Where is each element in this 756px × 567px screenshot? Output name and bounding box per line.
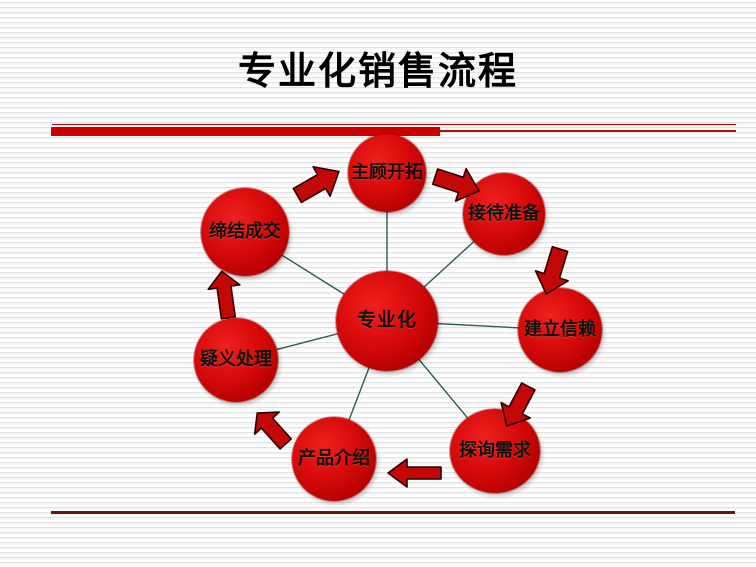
node-step-6-label: 疑义处理 (194, 350, 278, 370)
node-step-3[interactable]: 建立信赖 (518, 288, 602, 372)
node-step-2-label: 接待准备 (463, 204, 545, 224)
node-step-7[interactable]: 缔结成交 (201, 188, 289, 276)
node-step-6[interactable]: 疑义处理 (194, 318, 278, 402)
node-step-1-label: 主顾开拓 (348, 163, 426, 183)
node-step-3-label: 建立信赖 (518, 320, 602, 340)
node-center-label: 专业化 (336, 310, 438, 331)
arrow-right-down-icon (432, 162, 484, 206)
arrow-up-right-icon (292, 160, 346, 206)
arrow-up-left-icon (249, 405, 295, 451)
arrow-left-icon (385, 456, 443, 490)
slide-canvas: 专业化销售流程 专业化 主顾开拓 接待准备 建立信赖 探询需求 产品介绍 疑义处… (0, 0, 756, 567)
node-step-1[interactable]: 主顾开拓 (348, 134, 426, 212)
arrow-down-left-icon (494, 382, 542, 432)
node-step-4-label: 探询需求 (450, 441, 540, 461)
node-step-7-label: 缔结成交 (201, 222, 289, 242)
node-step-5-label: 产品介绍 (292, 449, 376, 469)
arrow-up-icon (205, 268, 245, 320)
arrow-down-icon (531, 246, 575, 298)
node-center[interactable]: 专业化 (336, 271, 438, 371)
node-step-5[interactable]: 产品介绍 (292, 417, 376, 501)
